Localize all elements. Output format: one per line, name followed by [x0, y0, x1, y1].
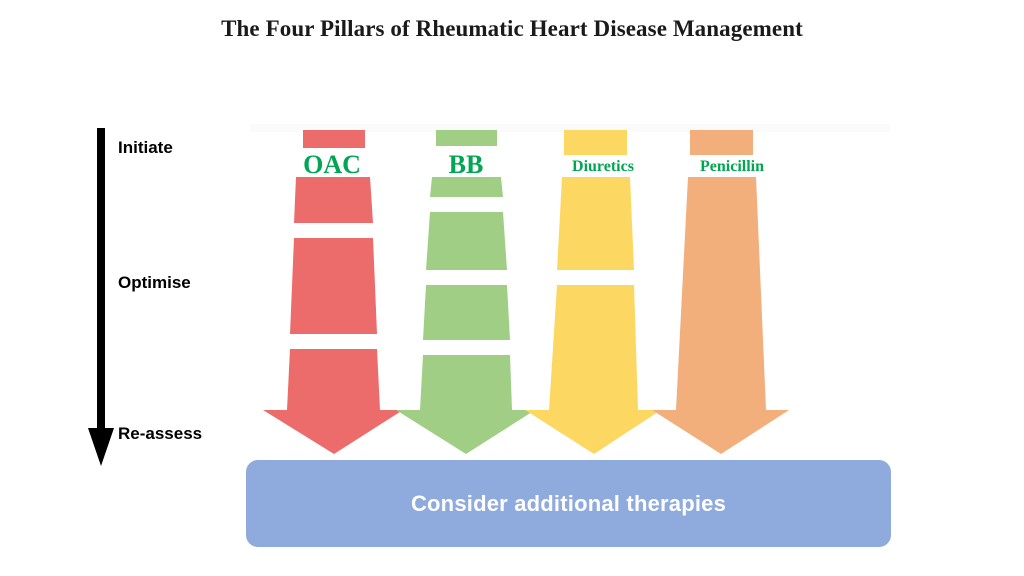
pillar-bb-arrow — [396, 355, 535, 454]
stage-label-reassess: Re-assess — [118, 424, 202, 444]
additional-therapies-banner[interactable]: Consider additional therapies — [246, 460, 891, 547]
pillar-label-diuretics: Diuretics — [548, 158, 658, 176]
pillar-label-oac: OAC — [282, 150, 382, 180]
pillar-bb-cap — [436, 130, 497, 146]
pillar-diuretics[interactable] — [525, 130, 661, 454]
stage-label-initiate: Initiate — [118, 138, 173, 158]
pillar-oac-arrow — [263, 349, 403, 454]
pillar-penicillin[interactable] — [652, 130, 789, 454]
pillar-diuretics-segment-1 — [557, 177, 634, 270]
pillar-diuretics-arrow — [525, 285, 661, 454]
pillar-penicillin-cap — [690, 130, 753, 155]
down-arrow-icon — [88, 128, 114, 466]
pillar-label-bb: BB — [416, 150, 516, 180]
pillar-oac-cap — [303, 130, 365, 148]
slide-canvas: The Four Pillars of Rheumatic Heart Dise… — [0, 0, 1024, 576]
pillar-penicillin-arrow — [652, 177, 789, 454]
banner-label: Consider additional therapies — [411, 491, 726, 517]
pillar-oac-segment-1 — [294, 177, 373, 223]
pillar-bb-segment-1 — [430, 177, 503, 197]
pillar-label-penicillin: Penicillin — [672, 158, 792, 176]
pillar-bb-segment-3 — [423, 285, 510, 340]
pillar-bb-segment-2 — [426, 212, 507, 270]
page-title: The Four Pillars of Rheumatic Heart Dise… — [0, 16, 1024, 42]
pillar-diuretics-cap — [564, 130, 627, 155]
stage-label-optimise: Optimise — [118, 273, 191, 293]
pillar-oac-segment-2 — [290, 238, 377, 334]
